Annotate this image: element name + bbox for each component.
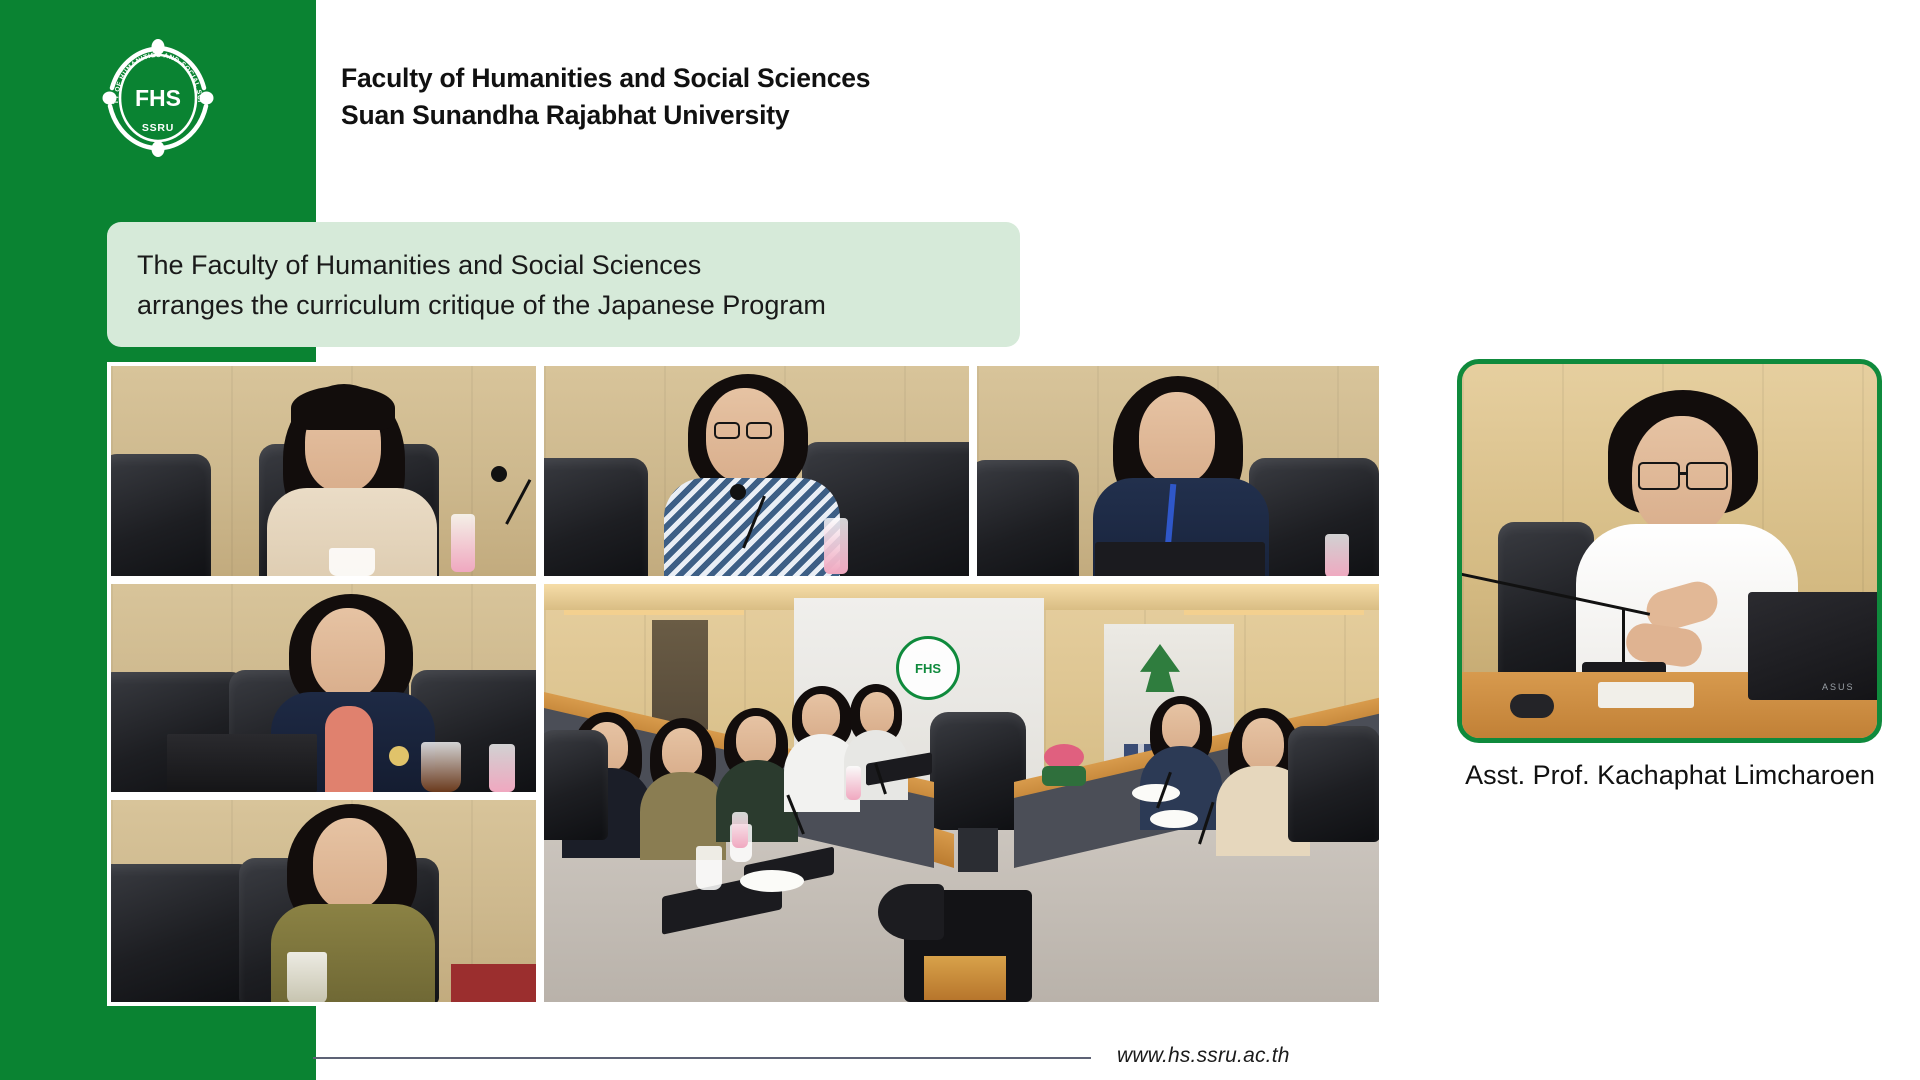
logo-fhs-text: FHS <box>135 85 181 111</box>
gallery-photo-5[interactable] <box>111 800 536 1002</box>
photo-gallery: FHS <box>107 362 1387 1006</box>
page-title-line1: Faculty of Humanities and Social Science… <box>341 60 1241 97</box>
gallery-photo-6[interactable]: FHS <box>544 584 1379 1002</box>
gallery-photo-4[interactable] <box>111 584 536 792</box>
logo-ssru-text: SSRU <box>142 122 174 134</box>
headline-line1: The Faculty of Humanities and Social Sci… <box>137 245 1020 285</box>
gallery-photo-1[interactable] <box>111 366 536 576</box>
featured-portrait-photo[interactable]: ASUS <box>1457 359 1882 743</box>
footer-divider <box>313 1057 1091 1059</box>
page-title: Faculty of Humanities and Social Science… <box>341 60 1241 134</box>
gallery-photo-2[interactable] <box>544 366 969 576</box>
footer-website-url[interactable]: www.hs.ssru.ac.th <box>1117 1044 1290 1068</box>
headline-line2: arranges the curriculum critique of the … <box>137 285 1020 325</box>
headline-callout: The Faculty of Humanities and Social Sci… <box>107 222 1020 347</box>
fhs-ssru-logo: FACULTY OF HUMANITIES AND SOCIAL SCIENCE… <box>96 36 220 160</box>
page-title-line2: Suan Sunandha Rajabhat University <box>341 97 1241 134</box>
poster-canvas: FACULTY OF HUMANITIES AND SOCIAL SCIENCE… <box>0 0 1920 1080</box>
portrait-caption: Asst. Prof. Kachaphat Limcharoen <box>1450 760 1890 791</box>
gallery-photo-3[interactable] <box>977 366 1379 576</box>
